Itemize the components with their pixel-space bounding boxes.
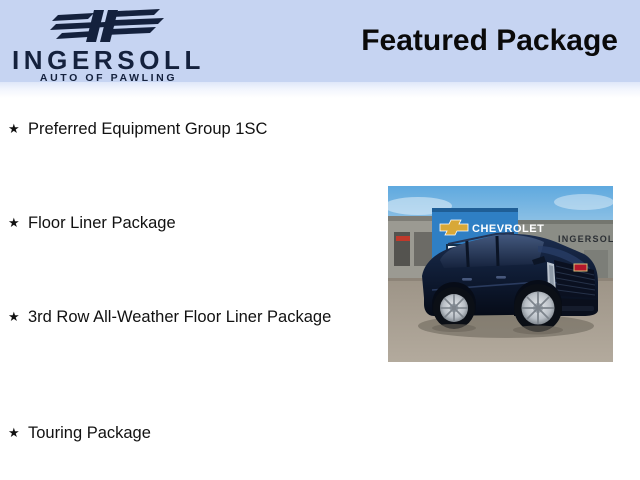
list-item: ★ Floor Liner Package — [8, 212, 338, 234]
slide-canvas: INGERSOLL AUTO OF PAWLING Featured Packa… — [0, 0, 640, 480]
ingersoll-winged-emblem-icon — [48, 6, 168, 46]
vehicle-photo: INGERSOLL CHEVROLET — [388, 186, 613, 362]
list-item: ★ Preferred Equipment Group 1SC — [8, 118, 338, 140]
list-item-label: Touring Package — [28, 422, 338, 444]
list-item: ★ Touring Package — [8, 422, 338, 444]
list-item-label: 3rd Row All-Weather Floor Liner Package — [28, 306, 338, 328]
dealer-logo: INGERSOLL AUTO OF PAWLING — [6, 4, 211, 84]
vehicle-photo-illustration: INGERSOLL CHEVROLET — [388, 186, 613, 362]
star-bullet-icon: ★ — [8, 212, 28, 234]
feature-list: ★ Preferred Equipment Group 1SC ★ Floor … — [0, 96, 360, 480]
page-title: Featured Package — [361, 24, 618, 58]
list-item: ★ 3rd Row All-Weather Floor Liner Packag… — [8, 306, 338, 328]
list-item-label: Floor Liner Package — [28, 212, 338, 234]
star-bullet-icon: ★ — [8, 422, 28, 444]
svg-text:INGERSOLL: INGERSOLL — [558, 234, 613, 244]
list-item-label: Preferred Equipment Group 1SC — [28, 118, 338, 140]
star-bullet-icon: ★ — [8, 118, 28, 140]
dealer-tagline: AUTO OF PAWLING — [6, 72, 211, 84]
dealer-wordmark: INGERSOLL — [6, 46, 211, 74]
star-bullet-icon: ★ — [8, 306, 28, 328]
